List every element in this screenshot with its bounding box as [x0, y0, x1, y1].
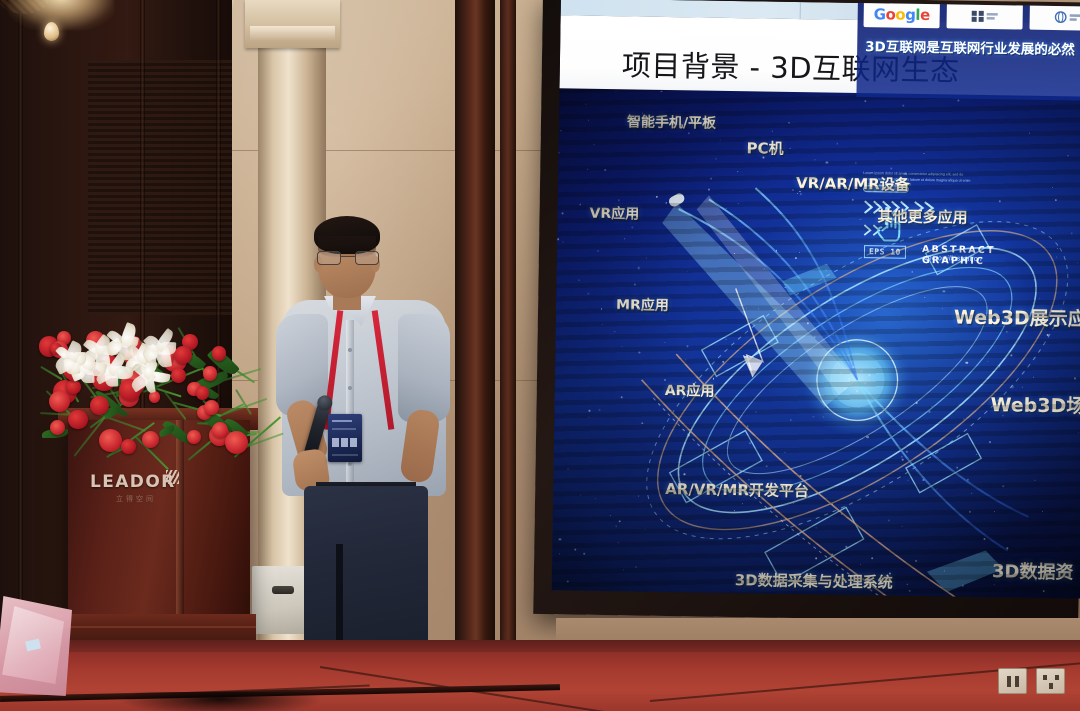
- red-flower: [68, 410, 87, 429]
- globe-icon: [1053, 10, 1080, 24]
- wall-switch-plate[interactable]: [998, 668, 1027, 694]
- red-flower: [90, 396, 110, 416]
- foreground-shadow: [120, 692, 320, 711]
- wall-power-outlet[interactable]: [1036, 668, 1065, 694]
- brand-logo-row: Google: [864, 1, 1080, 31]
- chandelier: [8, 0, 114, 44]
- grid-icon: [970, 9, 1000, 23]
- google-letter: e: [920, 5, 930, 23]
- hair: [314, 216, 380, 254]
- banner-headline: 3D互联网是互联网行业发展的必然: [865, 35, 1080, 59]
- screen-vignette: [552, 88, 1080, 598]
- wood-trim-secondary: [500, 0, 516, 664]
- lens-right: [355, 251, 379, 265]
- google-letter: G: [874, 5, 886, 23]
- red-flower: [174, 346, 192, 364]
- slide-top-right-banner: Google: [856, 1, 1080, 101]
- led-display-screen: Lorem ipsum dolor sit amet, consectetur …: [533, 0, 1080, 622]
- eyeglasses: [317, 251, 379, 266]
- sleeve-right: [398, 314, 450, 422]
- podium-brand-logo: LEADOR 立得空间: [90, 472, 200, 504]
- partner-logo-3: [1030, 4, 1080, 31]
- google-logo: Google: [864, 1, 940, 28]
- glasses-bridge: [341, 256, 355, 257]
- name-badge: [328, 414, 362, 462]
- slide-viewport: Lorem ipsum dolor sit amet, consectetur …: [552, 0, 1080, 599]
- flower-arrangement: [38, 318, 248, 458]
- slide-background: Lorem ipsum dolor sit amet, consectetur …: [552, 88, 1080, 598]
- podium-brand-name: LEADOR: [90, 472, 176, 492]
- red-flower: [66, 380, 81, 395]
- lens-left: [317, 251, 341, 265]
- podium-brand-subtitle: 立得空间: [116, 494, 200, 504]
- shirt-placket: [346, 320, 354, 490]
- red-flower: [171, 368, 186, 383]
- chandelier-glow: [8, 0, 114, 30]
- chandelier-crystal: [44, 22, 59, 41]
- red-flower: [196, 386, 209, 399]
- wood-seam: [18, 0, 23, 650]
- google-letter: g: [905, 5, 916, 23]
- partner-logo-2: [947, 2, 1023, 29]
- red-flower: [142, 431, 159, 448]
- leador-mark-icon: [166, 470, 179, 484]
- conference-presentation-photo: Lorem ipsum dolor sit amet, consectetur …: [0, 0, 1080, 711]
- column-capital-ring: [250, 26, 335, 40]
- red-flower: [121, 439, 136, 454]
- red-flower: [203, 366, 217, 380]
- column-capital: [245, 0, 340, 48]
- speaker-person: [276, 214, 466, 704]
- google-letter: o: [885, 5, 895, 23]
- red-flower: [187, 430, 201, 444]
- red-flower: [225, 431, 248, 454]
